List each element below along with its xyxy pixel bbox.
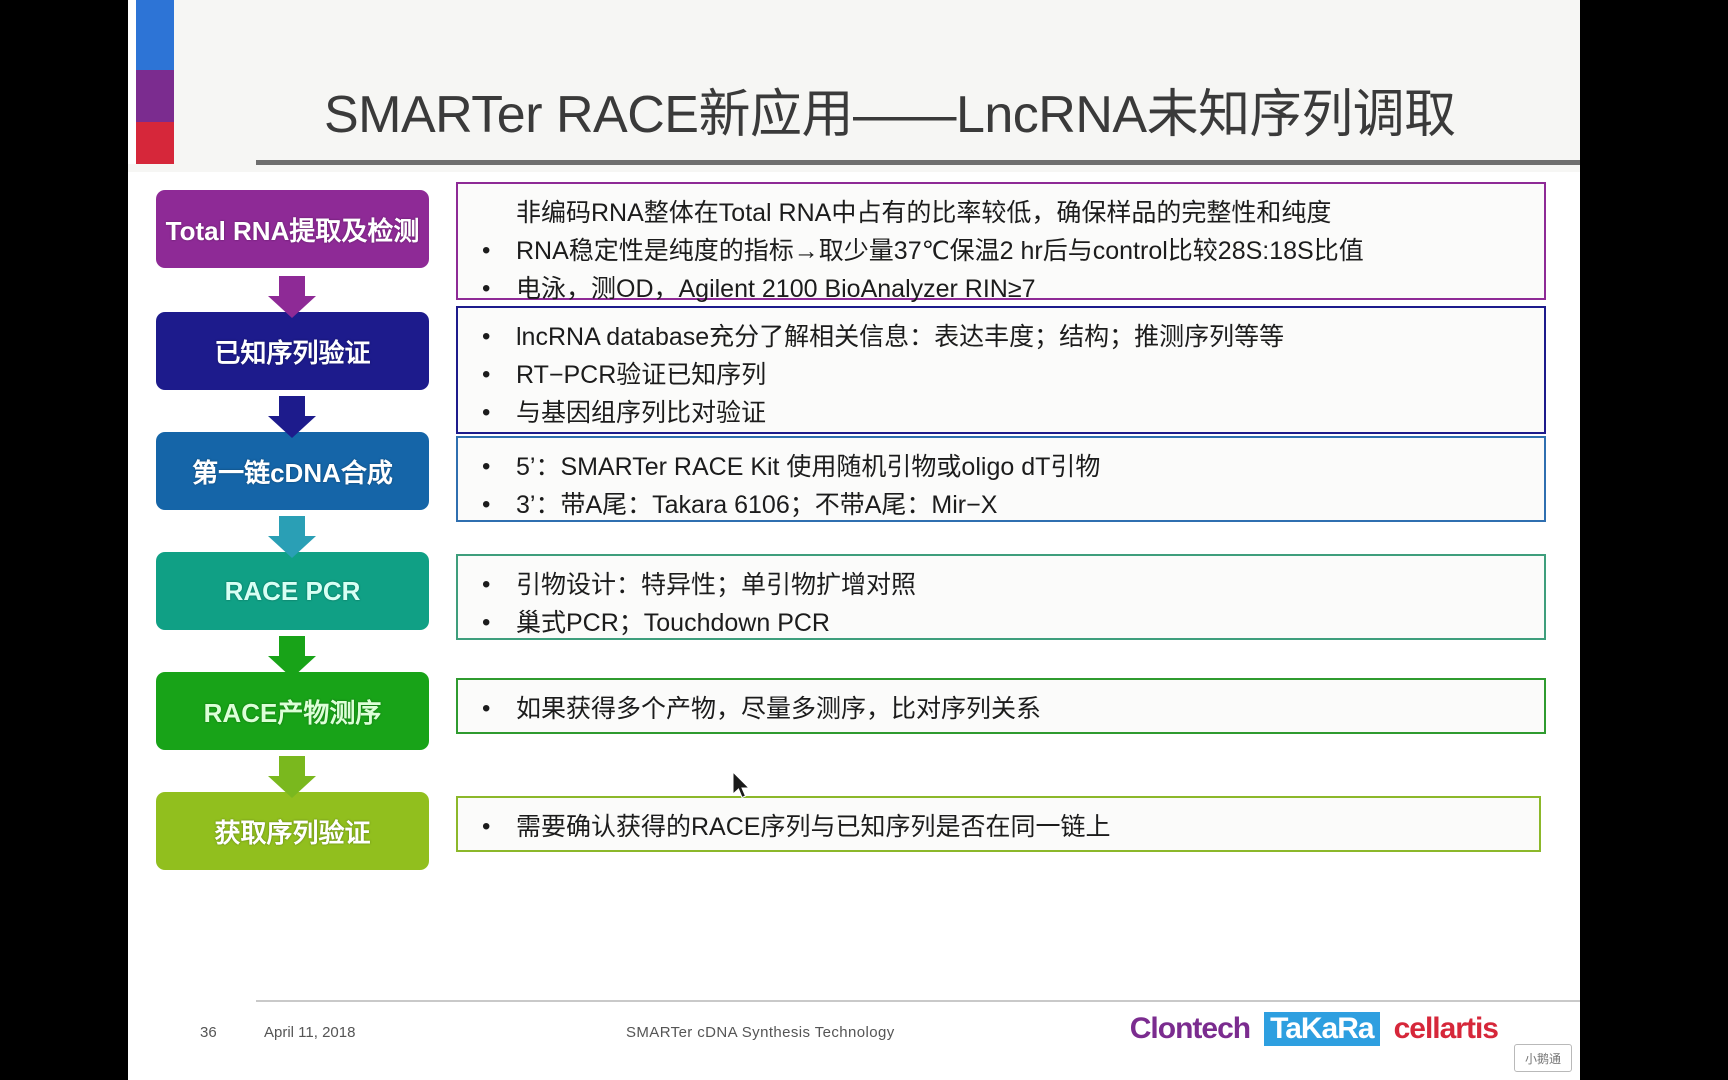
bullet-icon: • [476, 690, 516, 728]
flow-step-3: 第一链cDNA合成 [156, 432, 429, 510]
slide-footer: 36 April 11, 2018 SMARTer cDNA Synthesis… [128, 1010, 1580, 1070]
detail-text: RT−PCR验证已知序列 [516, 356, 1528, 394]
arrow-shaft [279, 276, 305, 298]
takara-logo: TaKaRa [1264, 1012, 1379, 1046]
flow-step-label: RACE产物测序 [204, 693, 382, 730]
flow-step-label: Total RNA提取及检测 [166, 211, 420, 248]
detail-box-1: 非编码RNA整体在Total RNA中占有的比率较低，确保样品的完整性和纯度•R… [456, 182, 1546, 300]
watermark: 小鹅通 [1514, 1044, 1572, 1072]
flow-arrow-5 [268, 756, 316, 798]
arrow-head [268, 296, 316, 318]
arrow-shaft [279, 516, 305, 538]
detail-text: 非编码RNA整体在Total RNA中占有的比率较低，确保样品的完整性和纯度 [516, 194, 1528, 232]
title-band: SMARTer RACE新应用——LncRNA未知序列调取 [128, 0, 1580, 172]
detail-box-4: •引物设计：特异性；单引物扩增对照•巢式PCR；Touchdown PCR [456, 554, 1546, 640]
arrow-shaft [279, 636, 305, 658]
detail-line: •RNA稳定性是纯度的指标→取少量37℃保温2 hr后与control比较28S… [476, 232, 1528, 270]
detail-text: RNA稳定性是纯度的指标→取少量37℃保温2 hr后与control比较28S:… [516, 232, 1528, 270]
bullet-icon: • [476, 566, 516, 604]
detail-line: •电泳，测OD，Agilent 2100 BioAnalyzer RIN≥7 [476, 270, 1528, 308]
page-title: SMARTer RACE新应用——LncRNA未知序列调取 [324, 72, 1456, 147]
detail-box-3: •5’：SMARTer RACE Kit 使用随机引物或oligo dT引物•3… [456, 436, 1546, 522]
detail-line: •巢式PCR；Touchdown PCR [476, 604, 1528, 642]
bullet-icon: • [476, 604, 516, 642]
clontech-logo: Clontech [1130, 1012, 1250, 1046]
flow-arrow-2 [268, 396, 316, 438]
bullet-icon: • [476, 808, 516, 846]
flow-step-label: RACE PCR [225, 576, 361, 607]
flow-arrow-4 [268, 636, 316, 678]
cellartis-logo: cellartis [1394, 1012, 1498, 1046]
flow-step-4: RACE PCR [156, 552, 429, 630]
flow-arrow-1 [268, 276, 316, 318]
logo-group: Clontech TaKaRa cellartis [1130, 1012, 1498, 1046]
footer-deck-title: SMARTer cDNA Synthesis Technology [626, 1024, 895, 1041]
detail-text: 电泳，测OD，Agilent 2100 BioAnalyzer RIN≥7 [516, 270, 1528, 308]
detail-text: 如果获得多个产物，尽量多测序，比对序列关系 [516, 690, 1528, 728]
detail-line: •需要确认获得的RACE序列与已知序列是否在同一链上 [476, 808, 1523, 846]
detail-line: 非编码RNA整体在Total RNA中占有的比率较低，确保样品的完整性和纯度 [476, 194, 1528, 232]
bullet-icon: • [476, 318, 516, 356]
arrow-shaft [279, 756, 305, 778]
footer-divider [256, 1000, 1580, 1002]
detail-line: •引物设计：特异性；单引物扩增对照 [476, 566, 1528, 604]
flow-step-label: 获取序列验证 [214, 813, 370, 850]
bullet-icon: • [476, 394, 516, 432]
detail-text: 需要确认获得的RACE序列与已知序列是否在同一链上 [516, 808, 1523, 846]
flow-step-5: RACE产物测序 [156, 672, 429, 750]
process-flow: Total RNA提取及检测已知序列验证第一链cDNA合成RACE PCRRAC… [128, 172, 458, 932]
bullet-icon: • [476, 486, 516, 524]
detail-line: •RT−PCR验证已知序列 [476, 356, 1528, 394]
flow-arrow-3 [268, 516, 316, 558]
arrow-head [268, 536, 316, 558]
flow-step-6: 获取序列验证 [156, 792, 429, 870]
arrow-head [268, 776, 316, 798]
flow-step-1: Total RNA提取及检测 [156, 190, 429, 268]
slide-canvas: SMARTer RACE新应用——LncRNA未知序列调取 Total RNA提… [128, 0, 1580, 1080]
title-divider [256, 160, 1580, 165]
flow-step-label: 已知序列验证 [214, 333, 370, 370]
accent-bar-cap [128, 0, 136, 164]
bullet-icon: • [476, 448, 516, 486]
detail-text: 3’：带A尾：Takara 6106；不带A尾：Mir−X [516, 486, 1528, 524]
arrow-head [268, 416, 316, 438]
detail-text: lncRNA database充分了解相关信息：表达丰度；结构；推测序列等等 [516, 318, 1528, 356]
detail-line: •3’：带A尾：Takara 6106；不带A尾：Mir−X [476, 486, 1528, 524]
bullet-icon: • [476, 270, 516, 308]
arrow-shaft [279, 396, 305, 418]
detail-line: •如果获得多个产物，尽量多测序，比对序列关系 [476, 690, 1528, 728]
screen: SMARTer RACE新应用——LncRNA未知序列调取 Total RNA提… [0, 0, 1728, 1080]
detail-line: •lncRNA database充分了解相关信息：表达丰度；结构；推测序列等等 [476, 318, 1528, 356]
flow-step-label: 第一链cDNA合成 [192, 453, 393, 490]
detail-line: •5’：SMARTer RACE Kit 使用随机引物或oligo dT引物 [476, 448, 1528, 486]
mouse-cursor [733, 772, 753, 802]
detail-text: 与基因组序列比对验证 [516, 394, 1528, 432]
footer-date: April 11, 2018 [264, 1024, 355, 1041]
page-number: 36 [200, 1024, 217, 1041]
arrow-head [268, 656, 316, 678]
video-letterbox-right [1580, 0, 1728, 1080]
bullet-icon: • [476, 232, 516, 270]
detail-text: 引物设计：特异性；单引物扩增对照 [516, 566, 1528, 604]
detail-text: 巢式PCR；Touchdown PCR [516, 604, 1528, 642]
detail-box-6: •需要确认获得的RACE序列与已知序列是否在同一链上 [456, 796, 1541, 852]
detail-box-2: •lncRNA database充分了解相关信息：表达丰度；结构；推测序列等等•… [456, 306, 1546, 434]
bullet-icon: • [476, 356, 516, 394]
video-letterbox-left [0, 0, 128, 1080]
detail-line: •与基因组序列比对验证 [476, 394, 1528, 432]
flow-step-2: 已知序列验证 [156, 312, 429, 390]
detail-box-5: •如果获得多个产物，尽量多测序，比对序列关系 [456, 678, 1546, 734]
detail-text: 5’：SMARTer RACE Kit 使用随机引物或oligo dT引物 [516, 448, 1528, 486]
